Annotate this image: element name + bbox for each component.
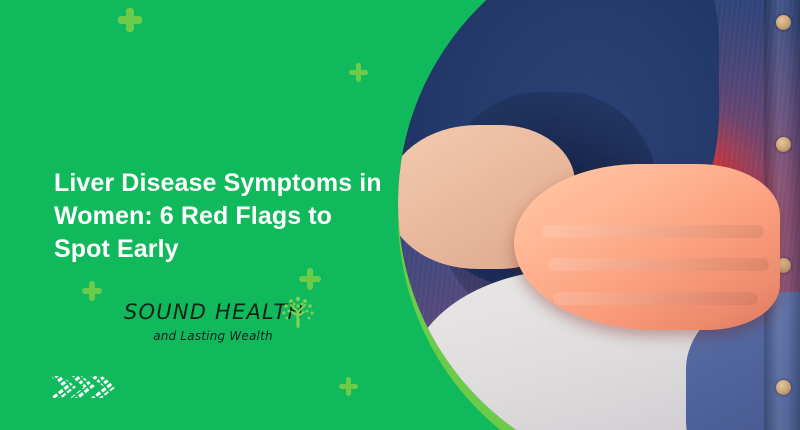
page-title: Liver Disease Symptoms in Women: 6 Red F…: [54, 167, 384, 266]
shirt-button: [776, 15, 791, 30]
plus-icon-mid-left: [82, 281, 102, 301]
plus-icon-bottom-center: [339, 377, 358, 396]
hero-photo: [398, 0, 800, 430]
logo[interactable]: SOUND HEALTH and Lasting Wealth: [124, 300, 334, 343]
photo-image: [398, 0, 800, 430]
finger: [548, 258, 770, 271]
plus-icon-mid-center: [299, 268, 321, 290]
sprout-burst-icon: [276, 292, 320, 336]
finger: [542, 225, 764, 238]
shirt-button: [776, 380, 791, 395]
article-banner: Liver Disease Symptoms in Women: 6 Red F…: [0, 0, 800, 430]
triple-chevron-arrow-icon: [48, 368, 134, 406]
photo-circle-mask: [398, 0, 800, 430]
shirt-button: [776, 137, 791, 152]
plus-icon-top-center: [349, 63, 368, 82]
plus-icon-top-left: [118, 8, 142, 32]
finger: [553, 292, 758, 305]
